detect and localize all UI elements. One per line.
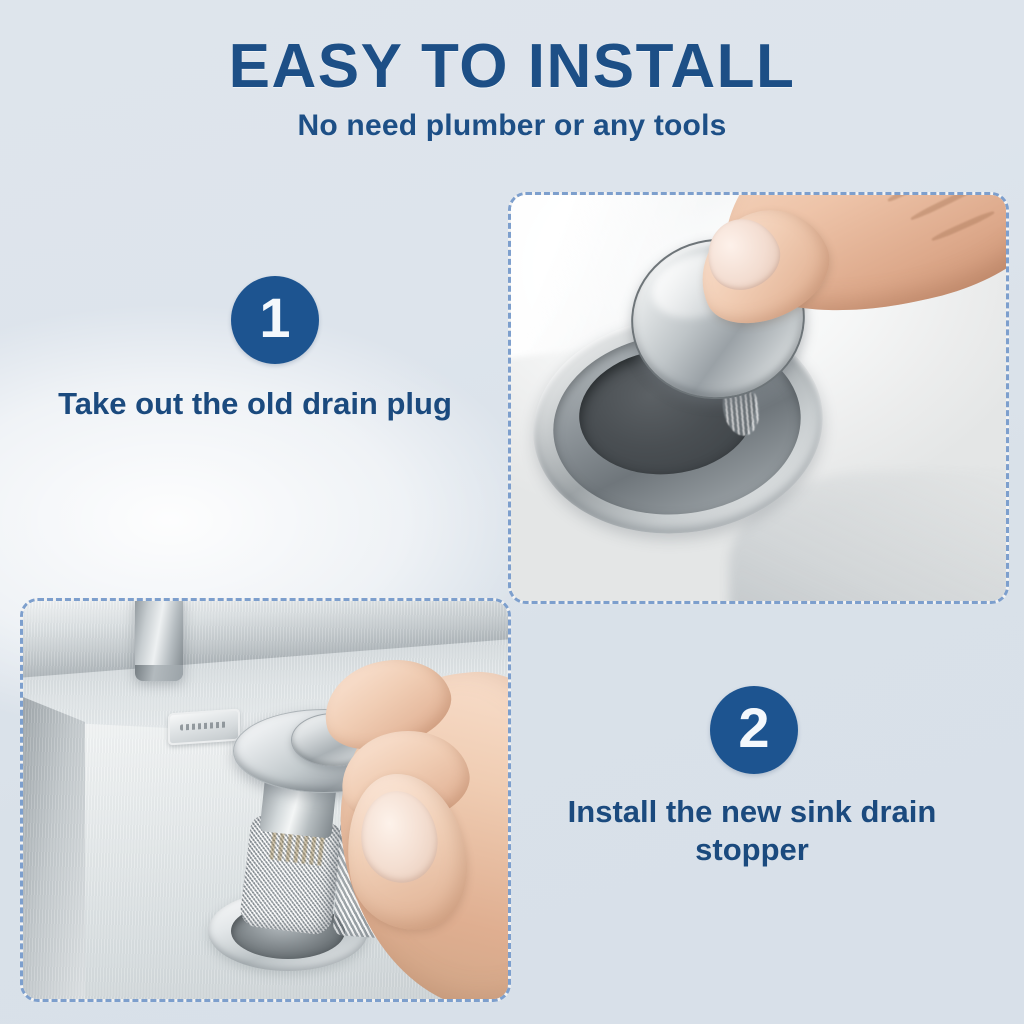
page-subtitle: No need plumber or any tools xyxy=(0,109,1024,143)
step-badge-2: 2 xyxy=(710,686,798,774)
header: EASY TO INSTALL No need plumber or any t… xyxy=(0,34,1024,143)
step-2-photo xyxy=(23,601,508,999)
page-title: EASY TO INSTALL xyxy=(0,34,1024,99)
faucet-tip xyxy=(135,665,183,681)
step-number-2: 2 xyxy=(738,700,769,756)
step-badge-1: 1 xyxy=(231,276,319,364)
step-caption-1: Take out the old drain plug xyxy=(10,385,500,423)
step-caption-2: Install the new sink drain stopper xyxy=(512,793,992,869)
step-2-photo-panel xyxy=(20,598,511,1002)
step-1-photo-panel xyxy=(508,192,1009,604)
sink-brand-plate xyxy=(168,708,240,745)
infographic-canvas: EASY TO INSTALL No need plumber or any t… xyxy=(0,0,1024,1024)
step-1-photo xyxy=(511,195,1006,601)
step-number-1: 1 xyxy=(259,290,290,346)
sink-side-wall xyxy=(23,697,85,999)
